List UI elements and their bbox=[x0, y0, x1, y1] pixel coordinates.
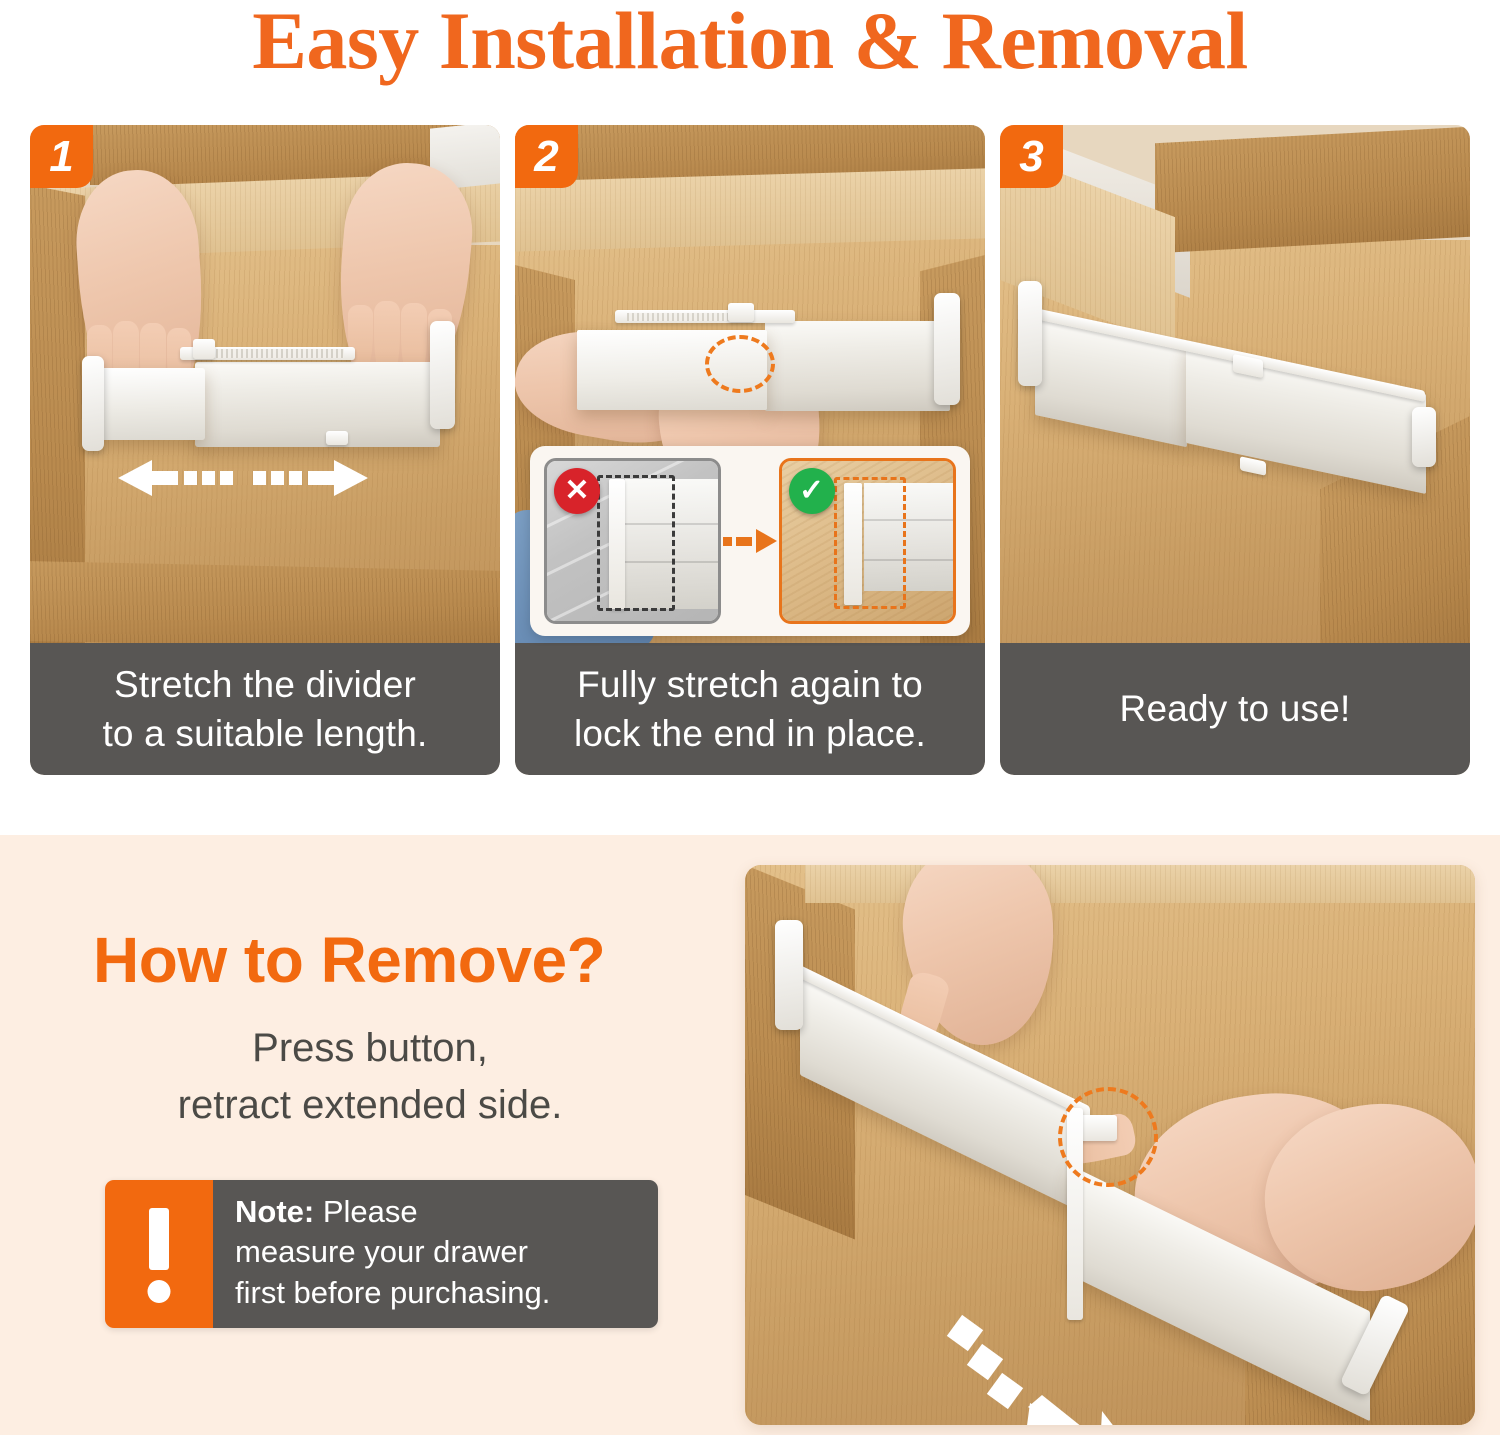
divider-end-cap-left bbox=[775, 920, 803, 1030]
divider-end-cap-right bbox=[1412, 407, 1436, 467]
step-number-badge-2: 2 bbox=[515, 125, 578, 188]
drawer-divider-extension bbox=[100, 368, 205, 440]
divider-end-cap-right bbox=[934, 293, 960, 405]
step-caption-line: Stretch the divider bbox=[114, 660, 416, 709]
step-caption-line: Fully stretch again to bbox=[577, 660, 923, 709]
orange-dashed-circle-highlight-icon bbox=[705, 335, 775, 393]
step-number-badge-3: 3 bbox=[1000, 125, 1063, 188]
note-line: first before purchasing. bbox=[235, 1273, 658, 1313]
step-1-photo bbox=[30, 125, 500, 646]
divider-lock-tab bbox=[193, 339, 215, 359]
orange-right-arrow-icon bbox=[723, 528, 777, 554]
step-caption-line: Ready to use! bbox=[1120, 684, 1351, 733]
comparison-inset: ✕ ✓ bbox=[530, 446, 970, 636]
how-to-remove-section: How to Remove? Press button, retract ext… bbox=[0, 835, 1500, 1435]
step-caption-2: Fully stretch again to lock the end in p… bbox=[515, 643, 985, 775]
gray-dashed-rectangle-icon bbox=[597, 475, 675, 611]
step-3-photo bbox=[1000, 125, 1470, 646]
note-label: Note: bbox=[235, 1194, 314, 1229]
drawer-front-rim bbox=[30, 561, 500, 646]
note-text: Note: Please measure your drawer first b… bbox=[213, 1180, 658, 1328]
note-line: measure your drawer bbox=[235, 1232, 658, 1272]
subtitle-line: Press button, bbox=[60, 1020, 680, 1077]
how-to-remove-photo bbox=[745, 865, 1475, 1425]
drawer-back-wall bbox=[1155, 127, 1470, 254]
green-check-icon: ✓ bbox=[789, 468, 835, 514]
note-line: Note: Please bbox=[235, 1192, 658, 1232]
step-card-2: ✕ ✓ bbox=[515, 125, 985, 775]
note-line-rest: Please bbox=[314, 1194, 417, 1229]
step-card-3: 3 Ready to use! bbox=[1000, 125, 1470, 775]
divider-end-cap-right bbox=[430, 321, 455, 429]
steps-row: 1 Stretch the divider to a suitable leng… bbox=[30, 125, 1470, 775]
step-number-badge-1: 1 bbox=[30, 125, 93, 188]
orange-dashed-rectangle-icon bbox=[834, 477, 906, 609]
divider-clip bbox=[326, 431, 348, 445]
drawer-divider bbox=[195, 362, 440, 447]
drawer-divider bbox=[765, 321, 950, 411]
divider-end-cap-left bbox=[82, 356, 104, 451]
exclamation-icon bbox=[105, 1180, 213, 1328]
step-card-1: 1 Stretch the divider to a suitable leng… bbox=[30, 125, 500, 775]
drawer-interior-wall bbox=[515, 168, 985, 251]
orange-dashed-circle-icon bbox=[1058, 1087, 1158, 1187]
page-title: Easy Installation & Removal bbox=[0, 0, 1500, 86]
note-callout: Note: Please measure your drawer first b… bbox=[105, 1180, 658, 1328]
how-to-remove-subtitle: Press button, retract extended side. bbox=[60, 1020, 680, 1134]
step-caption-3: Ready to use! bbox=[1000, 643, 1470, 775]
red-x-icon: ✕ bbox=[554, 468, 600, 514]
divider-teeth bbox=[216, 349, 344, 358]
step-caption-1: Stretch the divider to a suitable length… bbox=[30, 643, 500, 775]
divider-end-cap-left bbox=[1018, 281, 1042, 386]
white-dashed-arrow-icon bbox=[950, 1315, 1140, 1425]
incorrect-example-image: ✕ bbox=[544, 458, 721, 624]
subtitle-line: retract extended side. bbox=[60, 1077, 680, 1134]
inset-transition-arrow bbox=[721, 528, 778, 554]
correct-example-image: ✓ bbox=[779, 458, 956, 624]
divider-lock-tab bbox=[728, 303, 754, 322]
step-caption-line: lock the end in place. bbox=[574, 709, 926, 758]
double-headed-dashed-arrow-icon bbox=[118, 455, 368, 501]
step-2-photo: ✕ ✓ bbox=[515, 125, 985, 646]
how-to-remove-title: How to Remove? bbox=[93, 923, 605, 997]
step-caption-line: to a suitable length. bbox=[102, 709, 427, 758]
